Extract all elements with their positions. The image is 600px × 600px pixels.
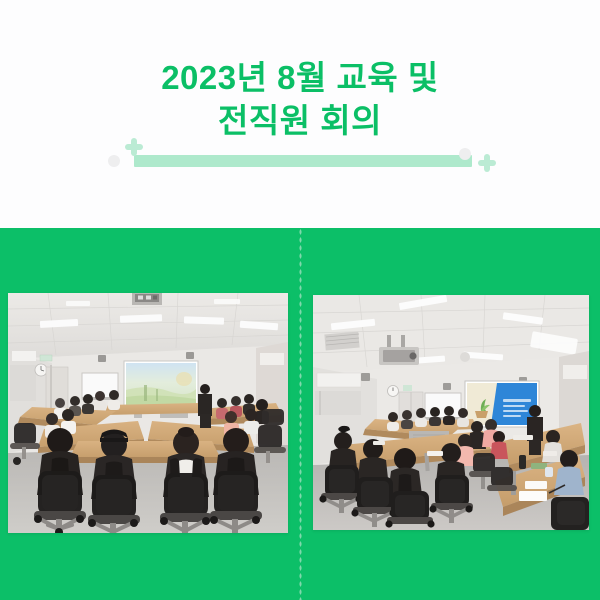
gray-dot-right: [459, 148, 471, 160]
gray-dot-left: [108, 155, 120, 167]
mint-underline-bar: [134, 155, 472, 167]
social-card: 2023년 8월 교육 및 전직원 회의: [0, 0, 600, 600]
plus-sparkle-icon-right: [478, 154, 496, 172]
title-line-2: 전직원 회의: [0, 99, 600, 142]
card-header: 2023년 8월 교육 및 전직원 회의: [0, 0, 600, 228]
dotted-vertical-divider: [299, 228, 302, 600]
plus-sparkle-icon-left: [125, 138, 143, 156]
card-body: [0, 228, 600, 600]
photo-meeting-room-side-view: [313, 295, 589, 530]
page-title: 2023년 8월 교육 및 전직원 회의: [0, 56, 600, 142]
title-line-1: 2023년 8월 교육 및: [0, 56, 600, 99]
photo-meeting-room-front-view: [8, 293, 288, 533]
